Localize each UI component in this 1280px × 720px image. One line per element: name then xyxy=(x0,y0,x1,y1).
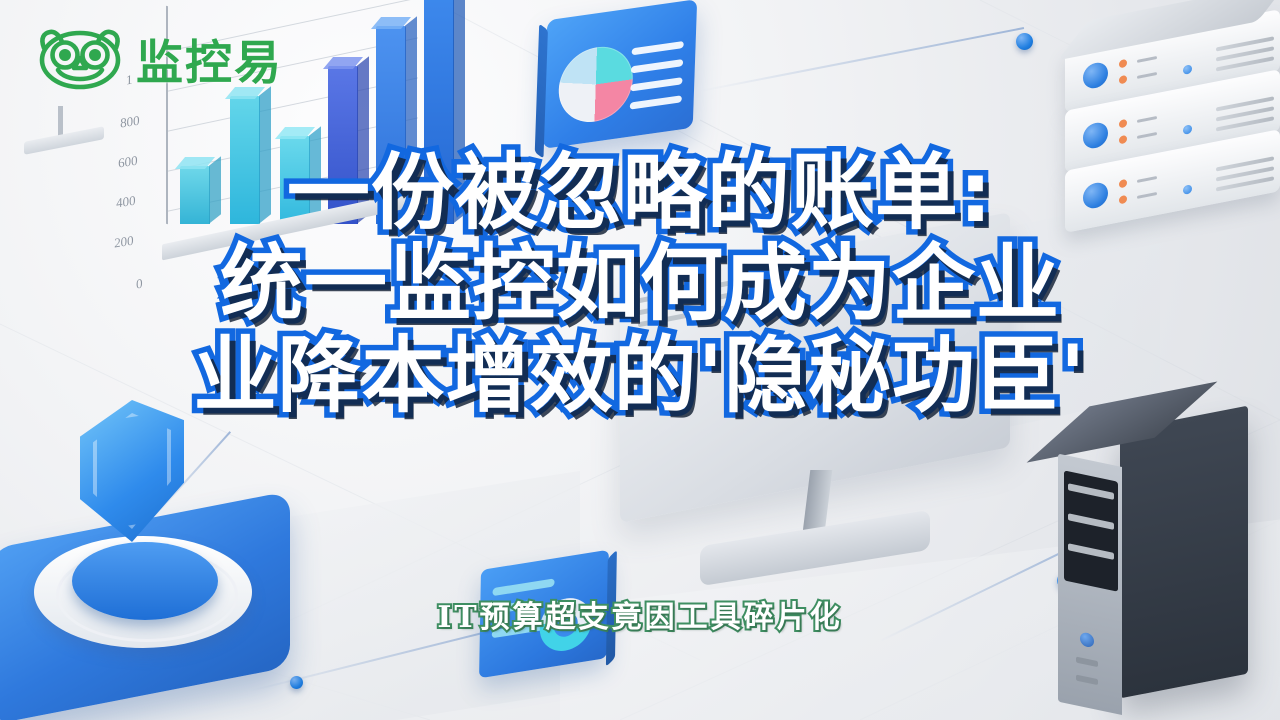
cover-title: 一份被忽略的账单: 统一监控如何成为企业 业降本增效的'隐秘功臣' xyxy=(0,150,1280,424)
cover-subtitle: IT预算超支竟因工具碎片化 xyxy=(0,592,1280,636)
network-node xyxy=(1016,33,1033,50)
network-wire xyxy=(700,27,1024,92)
dashboard-card xyxy=(543,0,697,149)
title-line-3-text: 业降本增效的'隐秘功臣' xyxy=(194,327,1087,424)
brand-name: 监控易 xyxy=(136,24,283,93)
chart-ytick: 800 xyxy=(119,113,141,132)
title-line-2: 统一监控如何成为企业 xyxy=(0,241,1280,326)
title-line-1-text: 一份被忽略的账单: xyxy=(287,144,993,241)
title-line-3: 业降本增效的'隐秘功臣' xyxy=(0,333,1280,418)
title-line-1: 一份被忽略的账单: xyxy=(0,150,1280,235)
title-line-2-text: 统一监控如何成为企业 xyxy=(220,235,1060,332)
dashboard-pie-chart xyxy=(558,42,635,127)
owl-icon xyxy=(34,28,126,90)
brand-logo[interactable]: 监控易 xyxy=(34,24,283,93)
cover-canvas: 1 800 600 400 200 0 xyxy=(0,0,1280,720)
pc-tower xyxy=(1120,406,1248,699)
network-node xyxy=(290,676,303,689)
